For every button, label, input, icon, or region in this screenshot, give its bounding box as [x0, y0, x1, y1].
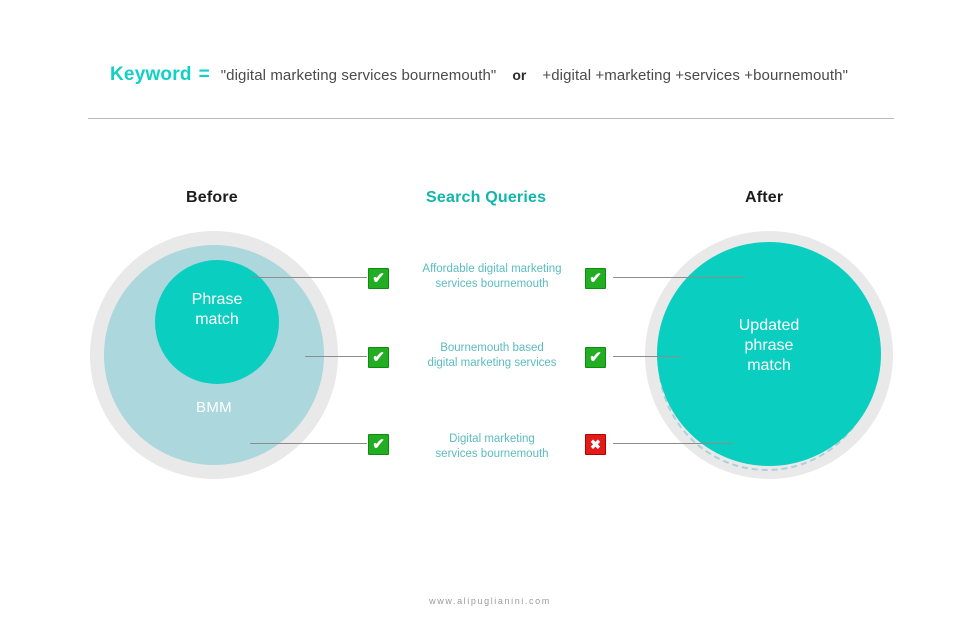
check-glyph: ✔	[586, 269, 605, 288]
or-separator: or	[512, 67, 526, 83]
query-text-line2: services bournemouth	[399, 277, 585, 292]
query-text-line2: digital marketing services	[399, 356, 585, 371]
check-glyph: ✔	[369, 269, 388, 288]
after-check-icon: ✔	[585, 268, 606, 289]
after-venn-diagram: Updated phrase match	[645, 231, 893, 479]
header-divider	[88, 118, 894, 119]
query-row: ✔ Affordable digital marketing services …	[368, 262, 612, 302]
connector-before-row-2	[305, 356, 367, 357]
before-check-icon: ✔	[368, 268, 389, 289]
cross-glyph: ✖	[586, 435, 605, 454]
equals-sign: =	[199, 64, 210, 86]
updated-phrase-match-label: Updated phrase match	[657, 316, 881, 376]
query-text-line1: Affordable digital marketing	[399, 262, 585, 277]
check-glyph: ✔	[586, 348, 605, 367]
infographic-canvas: Keyword = "digital marketing services bo…	[0, 0, 980, 621]
query-row: ✔ Bournemouth based digital marketing se…	[368, 341, 612, 381]
updated-phrase-match-label-line2: phrase	[657, 336, 881, 356]
phrase-match-label-line2: match	[155, 310, 279, 330]
updated-phrase-match-label-line1: Updated	[657, 316, 881, 336]
connector-after-row-3	[613, 443, 733, 444]
query-text-line1: Bournemouth based	[399, 341, 585, 356]
check-glyph: ✔	[369, 348, 388, 367]
keyword-definition-row: Keyword = "digital marketing services bo…	[110, 64, 848, 86]
after-cross-icon: ✖	[585, 434, 606, 455]
column-heading-after: After	[745, 189, 783, 207]
query-text: Digital marketing services bournemouth	[399, 432, 585, 462]
footer-website: www.alipuglianini.com	[0, 596, 980, 606]
keyword-label: Keyword	[110, 64, 192, 86]
query-text: Affordable digital marketing services bo…	[399, 262, 585, 292]
before-venn-diagram: BMM Phrase match	[90, 231, 338, 479]
bmm-label: BMM	[90, 399, 338, 416]
connector-before-row-1	[252, 277, 367, 278]
updated-phrase-match-label-line3: match	[657, 356, 881, 376]
column-heading-search-queries: Search Queries	[426, 189, 546, 207]
phrase-match-label-line1: Phrase	[155, 290, 279, 310]
connector-after-row-1	[613, 277, 743, 278]
query-text-line2: services bournemouth	[399, 447, 585, 462]
phrase-keyword-text: "digital marketing services bournemouth"	[221, 67, 497, 84]
before-check-icon: ✔	[368, 347, 389, 368]
connector-after-row-2	[613, 356, 681, 357]
before-check-icon: ✔	[368, 434, 389, 455]
query-text: Bournemouth based digital marketing serv…	[399, 341, 585, 371]
connector-before-row-3	[250, 443, 367, 444]
check-glyph: ✔	[369, 435, 388, 454]
query-text-line1: Digital marketing	[399, 432, 585, 447]
broad-keyword-text: +digital +marketing +services +bournemou…	[542, 67, 848, 84]
column-heading-before: Before	[186, 189, 238, 207]
after-check-icon: ✔	[585, 347, 606, 368]
query-row: ✔ Digital marketing services bournemouth…	[368, 428, 612, 468]
phrase-match-label: Phrase match	[155, 290, 279, 330]
